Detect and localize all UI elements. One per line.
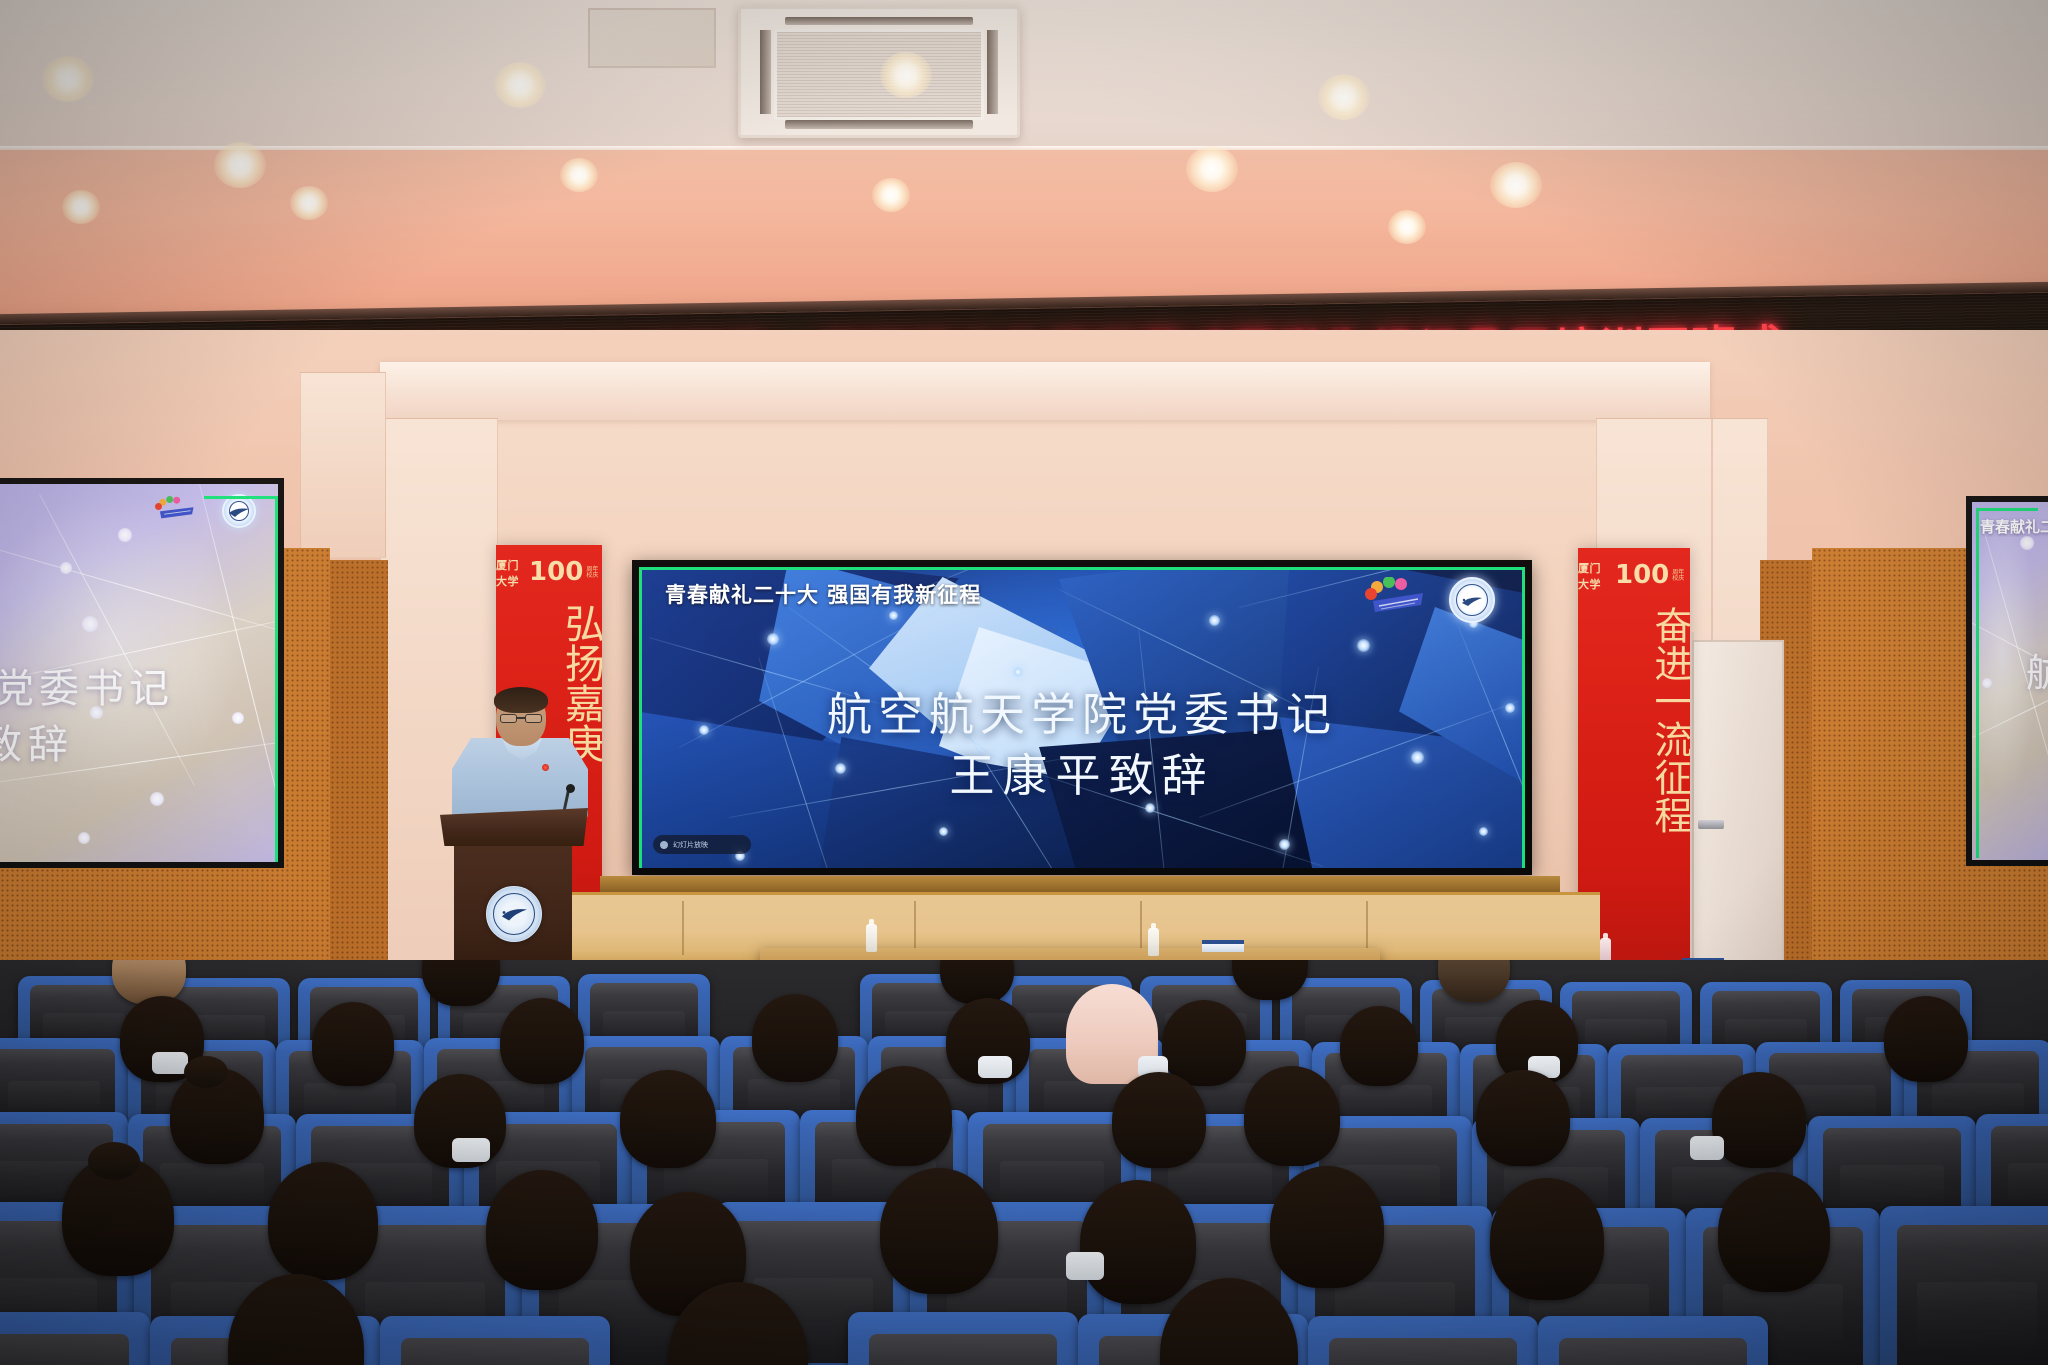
audience-head: [500, 998, 584, 1084]
audience-head: [1490, 1178, 1604, 1300]
side-projection-screen-right: 青春献礼二十 航: [1966, 496, 2048, 866]
ac-vent-bottom: [785, 120, 973, 129]
ac-vent-left: [760, 30, 771, 113]
door-handle-icon[interactable]: [1698, 820, 1724, 829]
ceiling-vent-panel: [588, 8, 716, 68]
auditorium-seat[interactable]: [1308, 1316, 1538, 1365]
ceiling-downlight: [62, 190, 100, 224]
audience-head: [486, 1170, 598, 1290]
face-mask: [978, 1056, 1012, 1078]
glasses-icon: [500, 714, 542, 723]
main-projection-screen: 青春献礼二十大 强国有我新征程: [632, 560, 1532, 875]
lapel-pin-icon: [542, 764, 549, 771]
face-mask: [1690, 1136, 1724, 1160]
ceiling-downlight: [880, 52, 932, 98]
slide-title-line-1: 航空航天学院党委书记: [639, 685, 1525, 746]
audience-head: [1080, 1180, 1196, 1304]
audience-head: [856, 1066, 952, 1166]
auditorium-scene: 厦门大学航空航天学院第一届网络文化节开幕式暨学生组织骨干培训开班式 厦门大学 1…: [0, 0, 2048, 1365]
ceiling-downlight: [1490, 162, 1542, 208]
wing-logo-icon: [1365, 577, 1427, 617]
ceiling-downlight: [1388, 210, 1426, 244]
side-title-fragment: 航: [2026, 642, 2048, 697]
audience-head: [312, 1002, 394, 1086]
ac-vent-right: [987, 30, 998, 113]
audience-head: [620, 1070, 716, 1168]
side-slide-right: 青春献礼二十 航: [1972, 502, 2048, 860]
side-slide-left: 党委书记 致辞: [0, 484, 278, 862]
audience-head: [1884, 996, 1968, 1082]
presenter-pen-icon[interactable]: [660, 841, 668, 849]
slide-title: 航空航天学院党委书记 王康平致辞: [639, 685, 1525, 807]
seal-logo-icon: [1449, 577, 1495, 623]
banner-header: 厦门大学 100 周年校庆: [1578, 556, 1690, 596]
lectern-top: [440, 808, 588, 846]
banner-anniversary-number: 100: [1615, 564, 1669, 587]
auditorium-seat[interactable]: [1538, 1316, 1768, 1365]
wall-panel: [300, 372, 386, 558]
ceiling-downlight: [290, 186, 328, 220]
audience-seating-area: [0, 960, 2048, 1365]
auditorium-seat[interactable]: [848, 1312, 1078, 1365]
side-slide-tag: 青春献礼二十: [1980, 516, 2048, 537]
water-bottle: [1148, 928, 1159, 956]
slide-accent-edge: [1976, 508, 2038, 511]
ceiling-downlight: [1318, 74, 1370, 120]
audience-head: [1718, 1172, 1830, 1292]
microphone-icon: [566, 784, 575, 793]
slide-accent-edge: [275, 496, 278, 866]
ceiling-downlight: [1186, 146, 1238, 192]
presenter-toolbar-label: 幻灯片放映: [673, 840, 708, 850]
banner-header: 厦门大学 100 周年校庆: [496, 553, 602, 593]
acoustic-panel: [330, 560, 388, 960]
table-nameplate: [1202, 940, 1244, 952]
ceiling: [0, 0, 2048, 330]
audience-head: [752, 994, 838, 1082]
audience-head: [1112, 1072, 1206, 1168]
banner-anniversary-sub: 周年校庆: [1672, 570, 1690, 582]
audience-head: [1244, 1066, 1340, 1166]
face-mask: [1066, 1252, 1104, 1280]
ac-grille: [774, 29, 984, 120]
banner-university-name: 厦门大学: [1578, 560, 1612, 592]
slide-accent-edge: [204, 496, 278, 499]
slide-tagline: 青春献礼二十大 强国有我新征程: [665, 579, 981, 609]
presentation-slide: 青春献礼二十大 强国有我新征程: [639, 567, 1525, 868]
auditorium-seat[interactable]: [380, 1316, 610, 1365]
slide-accent-edge: [639, 567, 1525, 570]
ceiling-downlight: [872, 178, 910, 212]
banner-anniversary-sub: 周年校庆: [586, 567, 602, 579]
side-title-line-2: 致辞: [0, 712, 74, 770]
ceiling-downlight: [42, 56, 94, 102]
slide-accent-edge: [1976, 508, 1979, 858]
banner-anniversary-number: 100: [529, 561, 583, 584]
stage-soffit: [380, 362, 1710, 420]
presenter-toolbar[interactable]: 幻灯片放映: [653, 835, 751, 854]
seal-logo-icon: [222, 494, 256, 528]
lectern: [440, 808, 588, 984]
audience-head: [1162, 1000, 1246, 1086]
banner-vertical-text: 奋进一流征程: [1578, 606, 1690, 834]
side-projection-screen-left: 党委书记 致辞: [0, 478, 284, 868]
ac-vent-top: [785, 17, 973, 26]
screen-mount-trim: [600, 876, 1560, 892]
side-door[interactable]: [1692, 640, 1784, 968]
hair-bun: [184, 1056, 228, 1088]
auditorium-seat[interactable]: [0, 1312, 150, 1365]
ceiling-downlight: [214, 142, 266, 188]
wing-logo-icon: [154, 496, 198, 524]
lectern-emblem-icon: [486, 886, 542, 942]
audience-head: [1270, 1166, 1384, 1288]
audience-head: [880, 1168, 998, 1294]
audience-head: [268, 1162, 378, 1280]
side-title-line-1: 党委书记: [0, 656, 174, 714]
ceiling-downlight: [560, 158, 598, 192]
face-mask: [152, 1052, 188, 1074]
water-bottle: [866, 924, 877, 952]
ceiling-downlight: [494, 62, 546, 108]
audience-head: [1476, 1070, 1570, 1166]
hair-bun: [88, 1142, 140, 1180]
speaker-hair: [494, 687, 548, 713]
auditorium-seat[interactable]: [1880, 1206, 2048, 1365]
ceiling-ac-unit: [738, 6, 1020, 138]
banner-university-name: 厦门大学: [496, 557, 526, 589]
audience-head: [1340, 1006, 1418, 1086]
ceiling-upper-plane: [0, 0, 2048, 152]
audience-head: [1712, 1072, 1806, 1168]
slide-title-line-2: 王康平致辞: [639, 746, 1525, 807]
face-mask: [452, 1138, 490, 1162]
